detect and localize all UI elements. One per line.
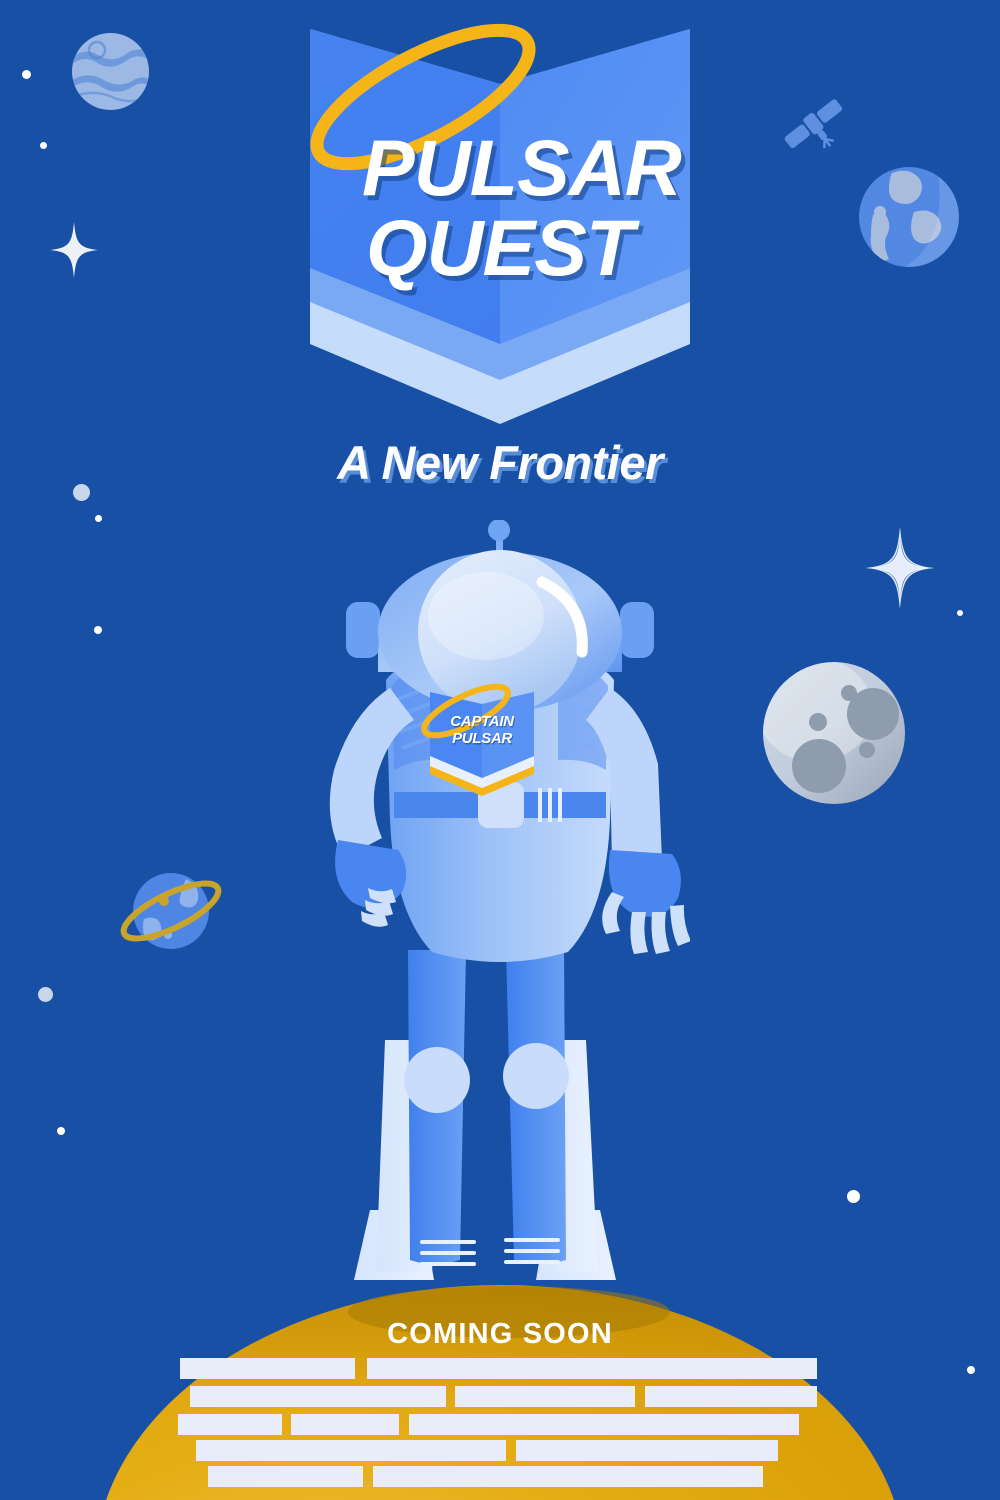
placeholder-bar: [208, 1466, 363, 1487]
placeholder-bar: [178, 1414, 282, 1435]
poster-canvas: PULSAR QUEST A New Frontier: [0, 0, 1000, 1500]
placeholder-bar: [516, 1440, 778, 1461]
placeholder-bar: [409, 1414, 799, 1435]
placeholder-bar: [291, 1414, 399, 1435]
placeholder-bar: [373, 1466, 763, 1487]
placeholder-bars: [0, 0, 1000, 1500]
placeholder-bar: [455, 1386, 635, 1407]
placeholder-bar: [367, 1358, 817, 1379]
placeholder-bar: [180, 1358, 355, 1379]
placeholder-bar: [190, 1386, 446, 1407]
placeholder-bar: [645, 1386, 817, 1407]
placeholder-bar: [196, 1440, 506, 1461]
